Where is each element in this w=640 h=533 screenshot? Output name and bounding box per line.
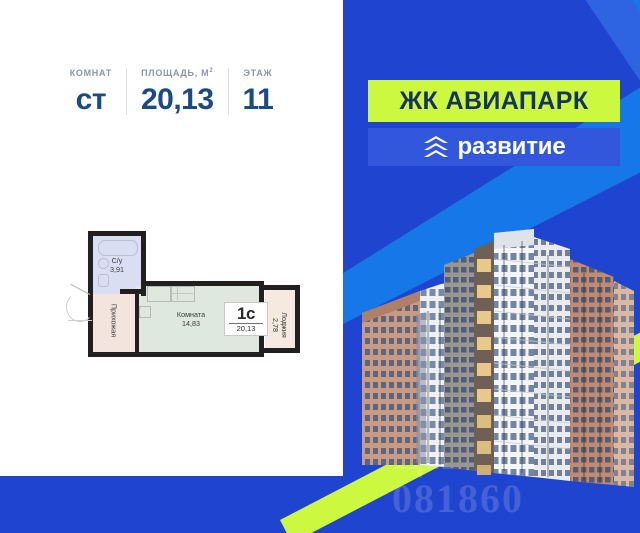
stat-floor-label: ЭТАЖ	[244, 68, 273, 78]
branding-block: ЖК АВИАПАРК развитие	[368, 80, 620, 166]
lit-balconies	[477, 259, 491, 475]
stat-floor-value: 11	[243, 85, 274, 115]
complex-name-banner[interactable]: ЖК АВИАПАРК	[368, 80, 620, 122]
room-hallway-label: Прихожая	[110, 297, 119, 345]
building-render	[356, 215, 640, 487]
room-bathroom-label: С/у 3,91	[93, 256, 141, 274]
stat-rooms-label: КОМНАТ	[70, 68, 112, 78]
kitchen-stove-divider2	[171, 293, 193, 294]
room-main-label: Комната 14,83	[156, 310, 226, 328]
tower-accent-column	[474, 241, 494, 473]
wall-balcony-inner-top	[259, 281, 264, 304]
listing-card: КОМНАТ ст ПЛОЩАДЬ, М2 20,13 ЭТАЖ 11	[0, 0, 343, 476]
stat-area: ПЛОЩАДЬ, М2 20,13	[126, 68, 228, 115]
building-illustration	[356, 215, 640, 487]
wall-hall-divider	[135, 294, 139, 352]
plan-summary-badge: 1с 20,13	[224, 302, 268, 336]
wall-bath-right	[141, 231, 146, 286]
stats-row: КОМНАТ ст ПЛОЩАДЬ, М2 20,13 ЭТАЖ 11	[0, 68, 343, 115]
complex-name-text: ЖК АВИАПАРК	[400, 87, 589, 116]
entry-door-arc	[66, 292, 94, 322]
floor-plan: С/у 3,91 Комната 14,83 Прихожая Лоджия 2…	[60, 228, 305, 378]
utility-icon	[139, 306, 151, 318]
screenshot-root: ЦИАН 081860 КОМНАТ ст ПЛОЩАДЬ, М2 20,13 …	[0, 0, 640, 533]
entry-door-threshold	[68, 320, 92, 321]
plan-badge-area: 20,13	[237, 325, 256, 333]
developer-banner[interactable]: развитие	[368, 128, 620, 166]
room-balcony-label: Лоджия 2,78	[271, 301, 289, 349]
wall-bath-jamb	[141, 286, 146, 296]
plan-badge-rooms: 1с	[237, 305, 255, 322]
bathtub-icon	[98, 240, 138, 256]
stat-area-label: ПЛОЩАДЬ, М2	[141, 68, 213, 78]
chevron-stack-icon	[423, 135, 449, 159]
stat-floor: ЭТАЖ 11	[228, 68, 288, 115]
stat-area-value: 20,13	[141, 85, 214, 115]
toilet-icon	[98, 274, 109, 287]
stat-rooms: КОМНАТ ст	[56, 68, 126, 115]
kitchen-stove-icon	[171, 286, 195, 302]
wall-bath-top	[88, 231, 146, 236]
stat-rooms-value: ст	[76, 85, 106, 115]
developer-name-text: развитие	[458, 133, 566, 161]
wall-balcony-right	[295, 285, 300, 353]
wall-main-bottom	[88, 352, 264, 357]
kitchen-counter-icon	[147, 286, 171, 302]
